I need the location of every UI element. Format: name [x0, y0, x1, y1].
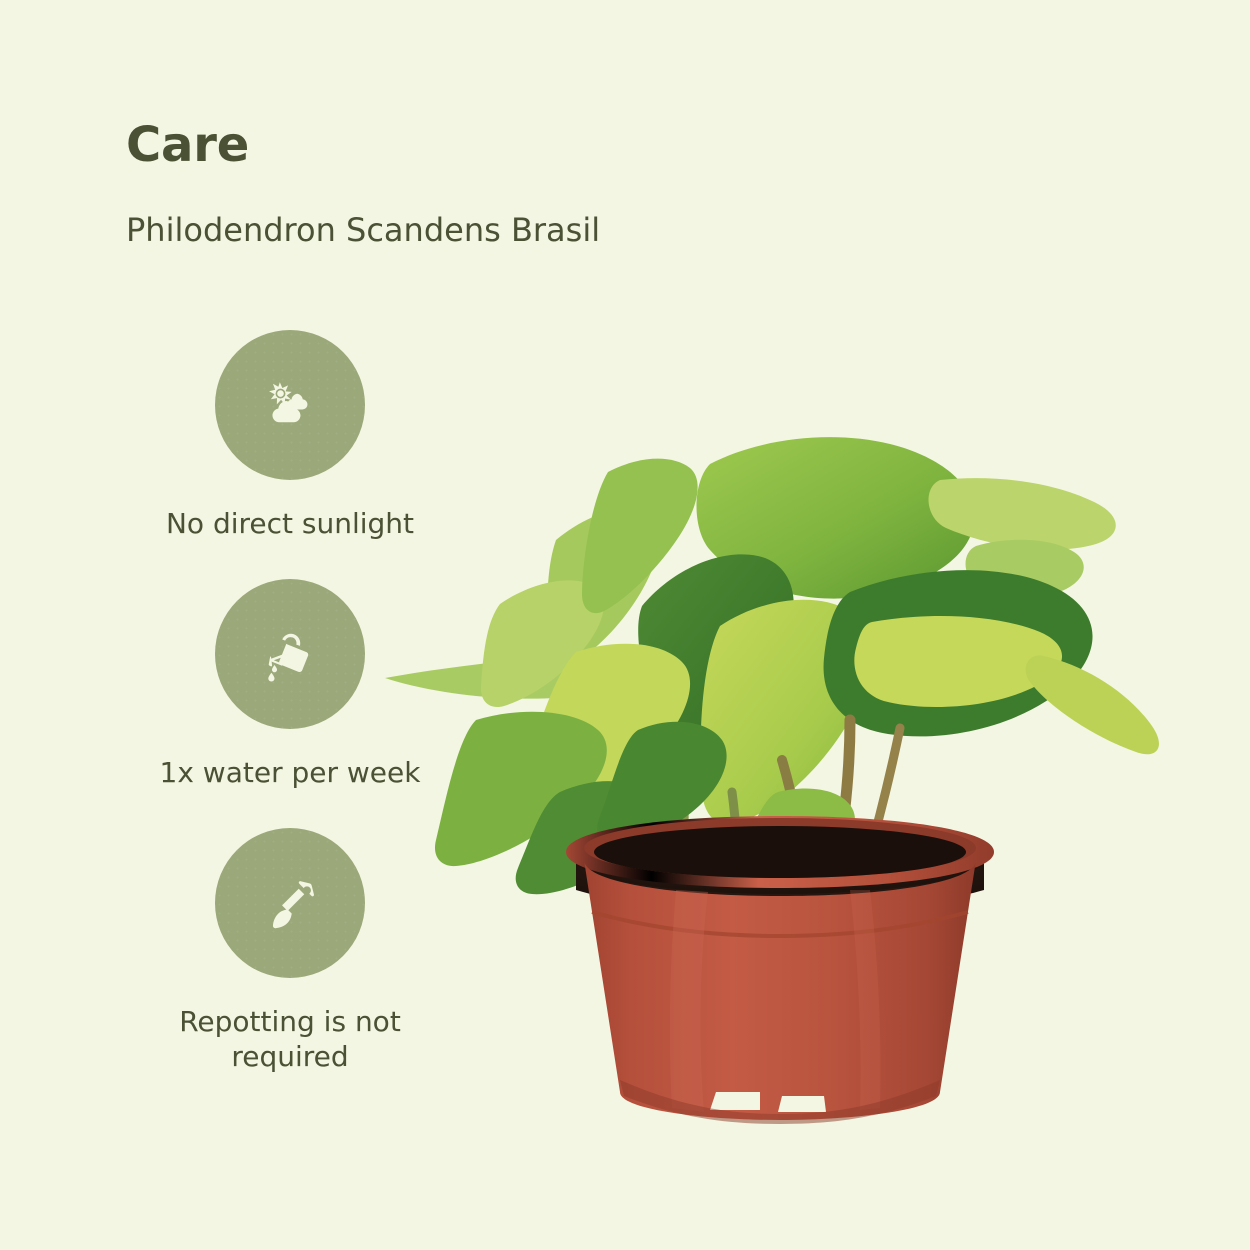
plant-species-name: Philodendron Scandens Brasil — [126, 211, 600, 249]
sun-behind-cloud-icon — [259, 374, 321, 436]
page-title: Care — [126, 118, 600, 173]
care-badge-watering — [215, 579, 365, 729]
shovel-icon — [259, 872, 321, 934]
care-badge-sunlight — [215, 330, 365, 480]
care-instruction-list: No direct sunlight 1x w — [165, 330, 415, 1112]
care-item-repotting: Repotting is not required — [165, 828, 415, 1076]
care-item-sunlight: No direct sunlight — [165, 330, 415, 542]
plant-product-photo — [380, 420, 1170, 1130]
page-header: Care Philodendron Scandens Brasil — [126, 118, 600, 250]
nursery-pot — [566, 816, 994, 1124]
care-item-watering: 1x water per week — [165, 579, 415, 791]
watering-can-icon — [259, 623, 321, 685]
care-badge-repotting — [215, 828, 365, 978]
